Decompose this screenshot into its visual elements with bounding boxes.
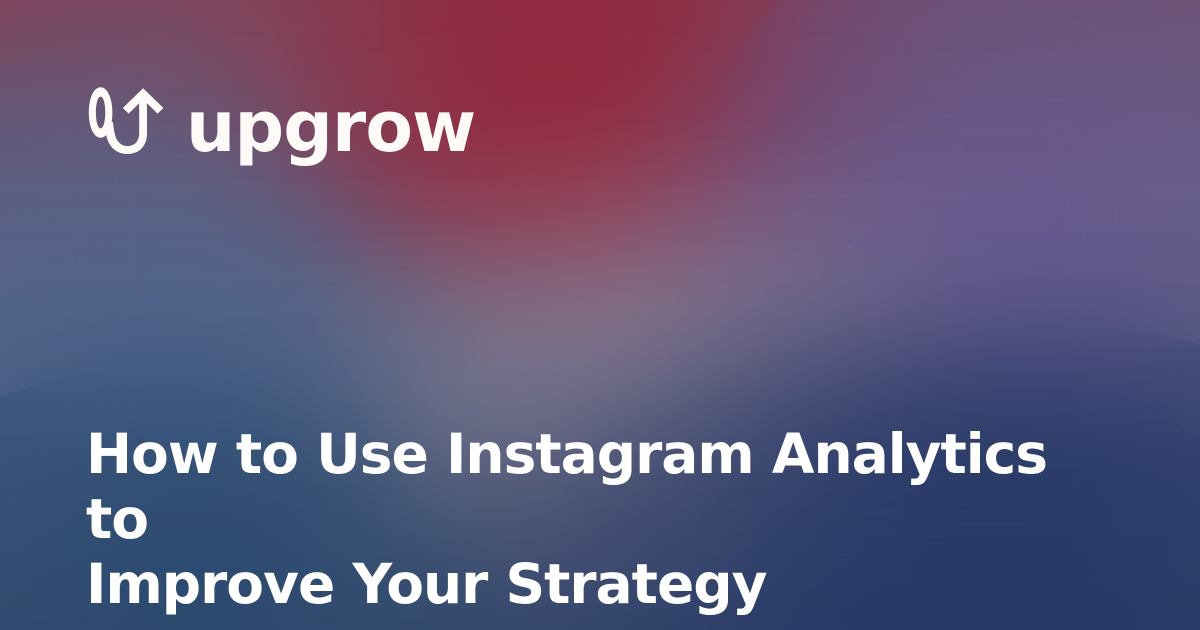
brand-wordmark: upgrow [186, 92, 475, 162]
card-content: upgrow How to Use Instagram Analytics to… [0, 0, 1200, 630]
upgrow-arrow-logo-icon [86, 84, 168, 164]
brand-logo: upgrow [86, 84, 478, 164]
open-graph-card: upgrow How to Use Instagram Analytics to… [0, 0, 1200, 630]
page-title: How to Use Instagram Analytics to Improv… [86, 422, 1106, 617]
